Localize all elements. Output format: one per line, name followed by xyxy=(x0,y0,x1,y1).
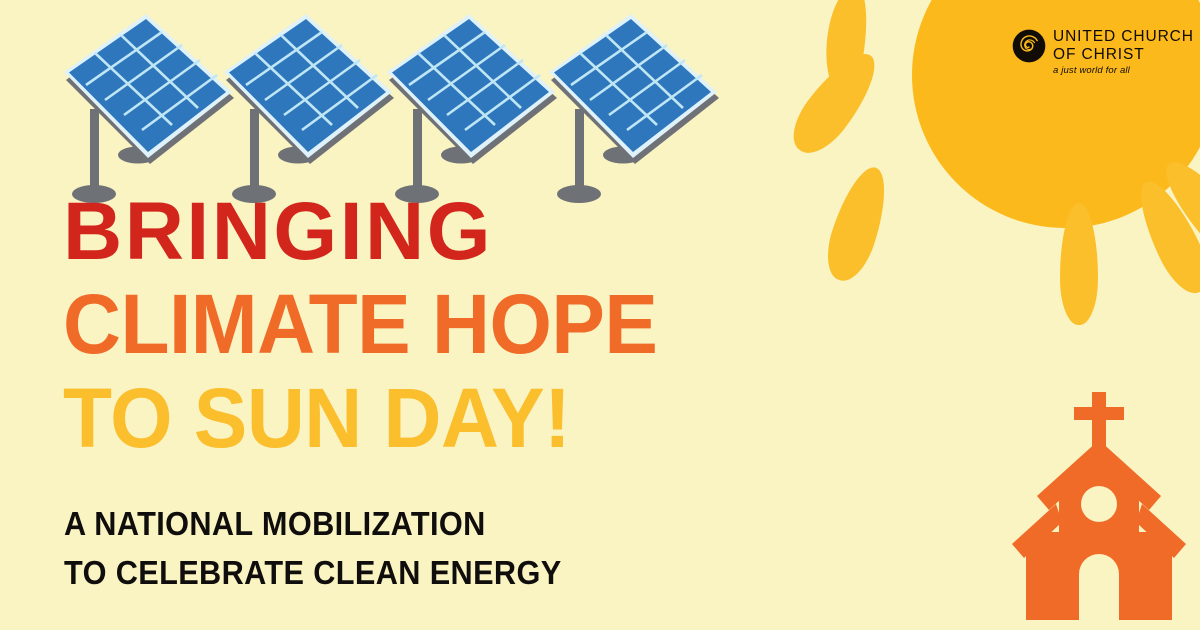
panel-face xyxy=(224,14,392,158)
poster-canvas: UNITED CHURCH OF CHRIST a just world for… xyxy=(0,0,1200,630)
ucc-line-1: UNITED CHURCH xyxy=(1053,29,1194,45)
wing-right xyxy=(1136,532,1172,620)
arched-door xyxy=(1079,554,1119,620)
subtitle-block: A NATIONAL MOBILIZATION TO CELEBRATE CLE… xyxy=(64,500,599,598)
round-window xyxy=(1081,486,1117,522)
ucc-logo: UNITED CHURCH OF CHRIST a just world for… xyxy=(1012,28,1190,82)
solar-panel xyxy=(222,14,412,209)
ucc-comma-mark xyxy=(1012,29,1046,63)
sun-ray xyxy=(1060,203,1098,325)
headline-line-1: BRINGING xyxy=(63,192,685,272)
panel-face xyxy=(64,14,232,158)
panel-face xyxy=(387,14,555,158)
solar-panel xyxy=(547,14,737,209)
panel-face xyxy=(549,14,717,158)
cross-horizontal xyxy=(1074,407,1124,420)
ucc-line-2: OF CHRIST xyxy=(1053,47,1194,63)
headline-block: BRINGING CLIMATE HOPE TO SUN DAY! xyxy=(63,192,685,459)
wing-left xyxy=(1026,532,1062,620)
sun-ray xyxy=(781,42,889,164)
subtitle-line-1: A NATIONAL MOBILIZATION xyxy=(64,500,562,549)
subtitle-line-2: TO CELEBRATE CLEAN ENERGY xyxy=(64,549,562,598)
sun-ray xyxy=(1153,150,1200,267)
church-illustration xyxy=(1004,392,1194,624)
sun-ray xyxy=(818,161,896,287)
ucc-wordmark: UNITED CHURCH OF CHRIST a just world for… xyxy=(1053,28,1194,75)
sun-ray xyxy=(1127,173,1200,301)
ucc-tagline: a just world for all xyxy=(1053,66,1194,76)
headline-line-3: TO SUN DAY! xyxy=(63,377,657,459)
sun-ray xyxy=(821,0,870,99)
headline-line-2: CLIMATE HOPE xyxy=(63,283,657,365)
solar-panel-row xyxy=(0,0,760,200)
